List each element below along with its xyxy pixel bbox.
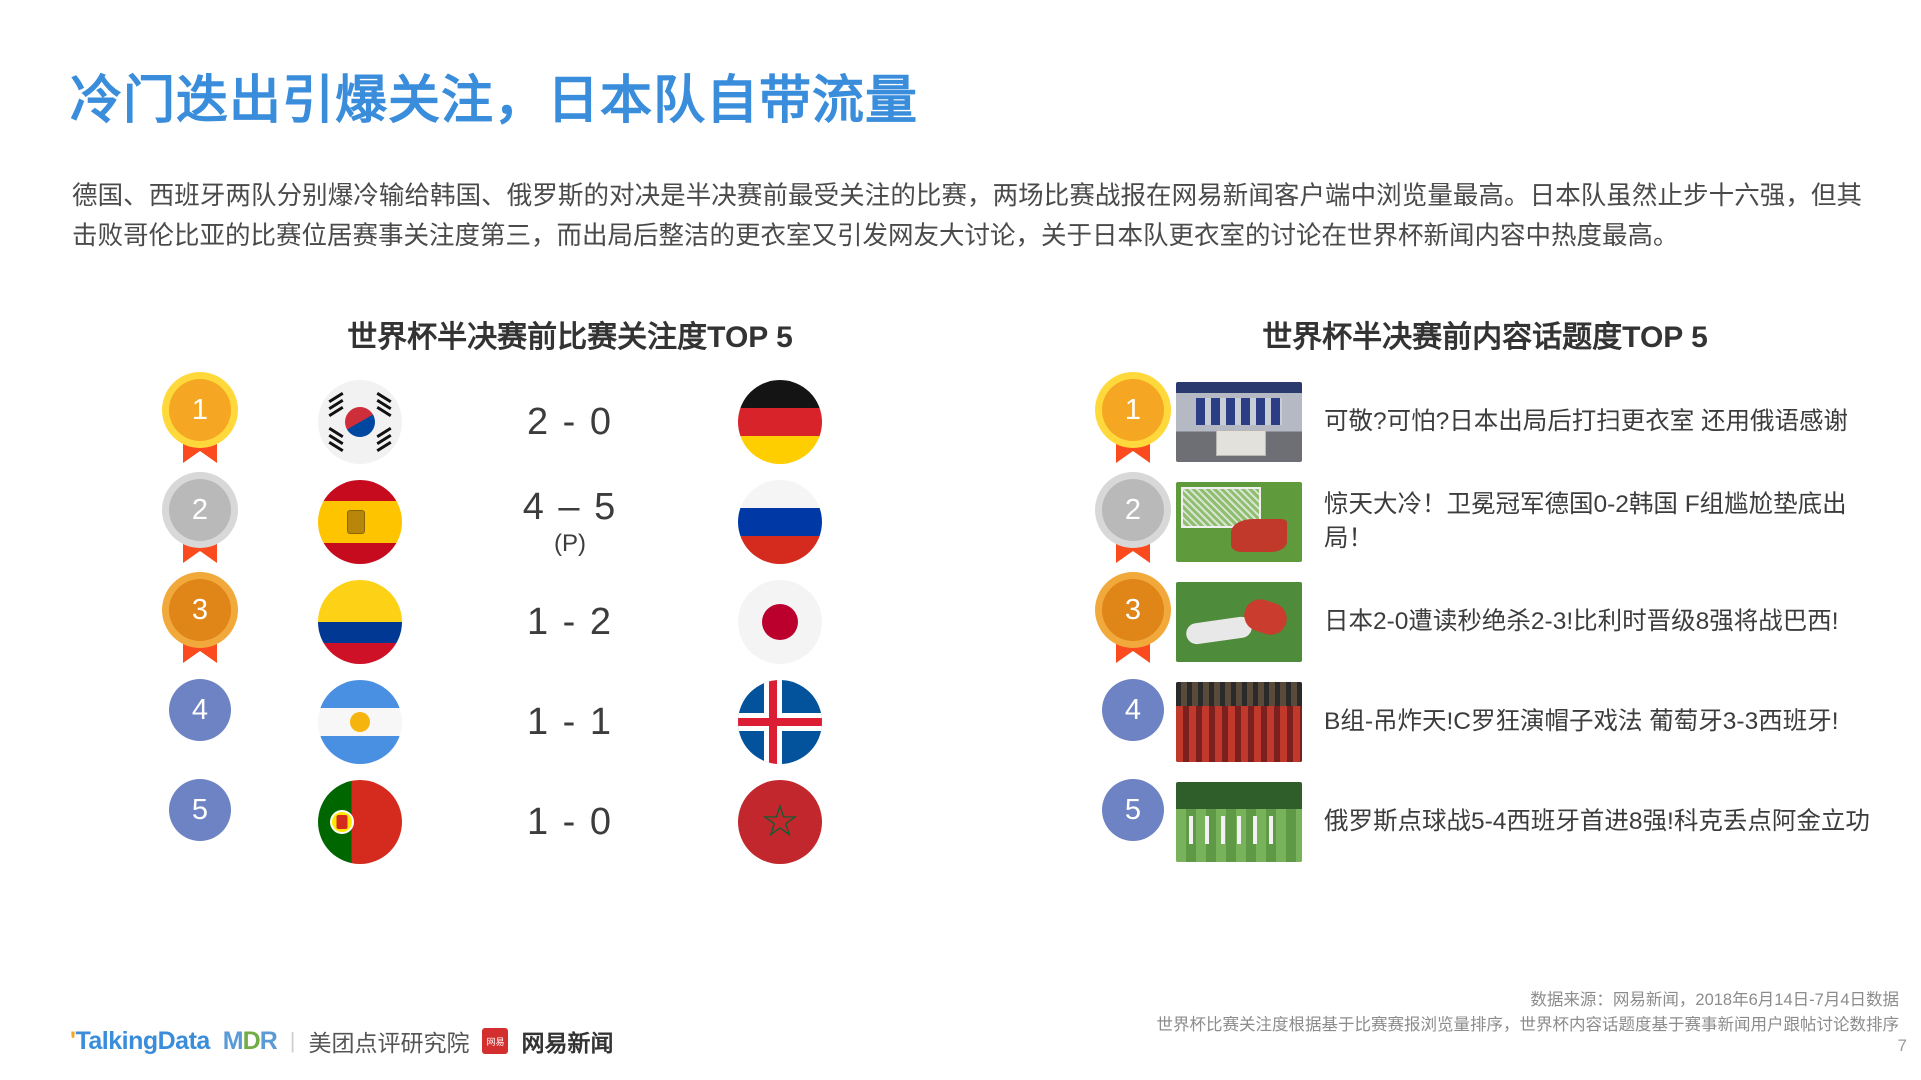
rank-number: 4 <box>1102 679 1164 741</box>
rank-number: 5 <box>1102 779 1164 841</box>
flag-icon-ar <box>318 680 402 764</box>
rank-cell: 3 <box>140 579 260 665</box>
rank-number: 1 <box>1102 379 1164 441</box>
topic-thumbnail <box>1176 382 1302 462</box>
logo-divider: | <box>290 1028 296 1054</box>
flag-icon-kr <box>318 380 402 464</box>
source-line-1: 数据来源：网易新闻，2018年6月14日-7月4日数据 <box>1157 988 1900 1013</box>
topic-thumbnail <box>1176 682 1302 762</box>
flag-icon-ru <box>738 480 822 564</box>
rank-number: 2 <box>169 479 231 541</box>
rank-cell: 4 <box>140 679 260 765</box>
talkingdata-logo: 'TalkingData <box>70 1027 210 1056</box>
rank-number: 5 <box>169 779 231 841</box>
slide-page: 冷门迭出引爆关注，日本队自带流量 德国、西班牙两队分别爆冷输给韩国、俄罗斯的对决… <box>0 0 1921 1080</box>
rank-medal-3: 3 <box>169 579 231 665</box>
flag-icon-pt <box>318 780 402 864</box>
table-row: 24 – 5(P) <box>140 472 1000 572</box>
topic-thumbnail <box>1176 482 1302 562</box>
home-team-cell <box>260 380 460 464</box>
rank-cell: 1 <box>1090 379 1176 465</box>
rank-cell: 5 <box>1090 779 1176 865</box>
away-team-cell <box>680 480 880 564</box>
logo-bar: 'TalkingData MDR | 美团点评研究院 网易 网易新闻 <box>70 1024 613 1058</box>
topic-headline: 可敬?可怕?日本出局后打扫更衣室 还用俄语感谢 <box>1324 405 1890 439</box>
rank-number: 2 <box>1102 479 1164 541</box>
rank-medal-5: 5 <box>1102 779 1164 865</box>
topic-heat-list: 1可敬?可怕?日本出局后打扫更衣室 还用俄语感谢2惊天大冷！卫冕冠军德国0-2韩… <box>1090 372 1890 872</box>
flag-icon-co <box>318 580 402 664</box>
rank-cell: 5 <box>140 779 260 865</box>
list-item[interactable]: 5俄罗斯点球战5-4西班牙首进8强!科克丢点阿金立功 <box>1090 772 1890 872</box>
right-panel-title: 世界杯半决赛前内容话题度TOP 5 <box>1090 312 1880 356</box>
list-item[interactable]: 2惊天大冷！卫冕冠军德国0-2韩国 F组尴尬垫底出局！ <box>1090 472 1890 572</box>
rank-medal-2: 2 <box>169 479 231 565</box>
rank-medal-1: 1 <box>1102 379 1164 465</box>
home-team-cell <box>260 780 460 864</box>
flag-icon-es <box>318 480 402 564</box>
data-source-note: 数据来源：网易新闻，2018年6月14日-7月4日数据 世界杯比赛关注度根据基于… <box>1157 988 1900 1038</box>
netease-badge-icon: 网易 <box>482 1028 508 1054</box>
topic-headline: 日本2-0遭读秒绝杀2-3!比利时晋级8强将战巴西! <box>1324 605 1890 639</box>
list-item[interactable]: 3日本2-0遭读秒绝杀2-3!比利时晋级8强将战巴西! <box>1090 572 1890 672</box>
score-cell: 1 - 2 <box>460 603 680 641</box>
rank-cell: 2 <box>1090 479 1176 565</box>
rank-number: 3 <box>169 579 231 641</box>
flag-icon-de <box>738 380 822 464</box>
flag-icon-jp <box>738 580 822 664</box>
topic-headline: B组-吊炸天!C罗狂演帽子戏法 葡萄牙3-3西班牙! <box>1324 705 1890 739</box>
left-panel-title: 世界杯半决赛前比赛关注度TOP 5 <box>140 312 1000 356</box>
page-number: 7 <box>1898 1036 1907 1056</box>
score-cell: 1 - 0 <box>460 803 680 841</box>
rank-number: 4 <box>169 679 231 741</box>
lede-paragraph: 德国、西班牙两队分别爆冷输给韩国、俄罗斯的对决是半决赛前最受关注的比赛，两场比赛… <box>72 176 1862 256</box>
list-item[interactable]: 4B组-吊炸天!C罗狂演帽子戏法 葡萄牙3-3西班牙! <box>1090 672 1890 772</box>
rank-cell: 2 <box>140 479 260 565</box>
list-item[interactable]: 1可敬?可怕?日本出局后打扫更衣室 还用俄语感谢 <box>1090 372 1890 472</box>
away-team-cell: ☆ <box>680 780 880 864</box>
topic-thumbnail <box>1176 582 1302 662</box>
rank-number: 3 <box>1102 579 1164 641</box>
flag-icon-ma: ☆ <box>738 780 822 864</box>
away-team-cell <box>680 680 880 764</box>
flag-icon-is <box>738 680 822 764</box>
rank-cell: 3 <box>1090 579 1176 665</box>
rank-medal-1: 1 <box>169 379 231 465</box>
rank-number: 1 <box>169 379 231 441</box>
table-row: 41 - 1 <box>140 672 1000 772</box>
topic-headline: 俄罗斯点球战5-4西班牙首进8强!科克丢点阿金立功 <box>1324 805 1890 839</box>
rank-cell: 1 <box>140 379 260 465</box>
table-row: 12 - 0 <box>140 372 1000 472</box>
home-team-cell <box>260 480 460 564</box>
score-cell: 2 - 0 <box>460 403 680 441</box>
topic-headline: 惊天大冷！卫冕冠军德国0-2韩国 F组尴尬垫底出局！ <box>1324 488 1890 556</box>
rank-medal-5: 5 <box>169 779 231 865</box>
penalty-note: (P) <box>460 532 680 556</box>
away-team-cell <box>680 580 880 664</box>
topic-thumbnail <box>1176 782 1302 862</box>
rank-medal-4: 4 <box>1102 679 1164 765</box>
rank-cell: 4 <box>1090 679 1176 765</box>
page-title: 冷门迭出引爆关注，日本队自带流量 <box>70 58 918 133</box>
mdr-logo: MDR <box>223 1027 277 1056</box>
away-team-cell <box>680 380 880 464</box>
rank-medal-4: 4 <box>169 679 231 765</box>
score-cell: 1 - 1 <box>460 703 680 741</box>
table-row: 51 - 0☆ <box>140 772 1000 872</box>
meituan-research-logo: 美团点评研究院 <box>308 1024 469 1058</box>
table-row: 31 - 2 <box>140 572 1000 672</box>
source-line-2: 世界杯比赛关注度根据基于比赛赛报浏览量排序，世界杯内容话题度基于赛事新闻用户跟帖… <box>1157 1013 1900 1038</box>
home-team-cell <box>260 680 460 764</box>
match-attention-table: 12 - 024 – 5(P)31 - 241 - 151 - 0☆ <box>140 372 1000 872</box>
score-cell: 4 – 5(P) <box>460 488 680 556</box>
rank-medal-2: 2 <box>1102 479 1164 565</box>
home-team-cell <box>260 580 460 664</box>
netease-news-logo: 网易新闻 <box>521 1024 613 1058</box>
rank-medal-3: 3 <box>1102 579 1164 665</box>
